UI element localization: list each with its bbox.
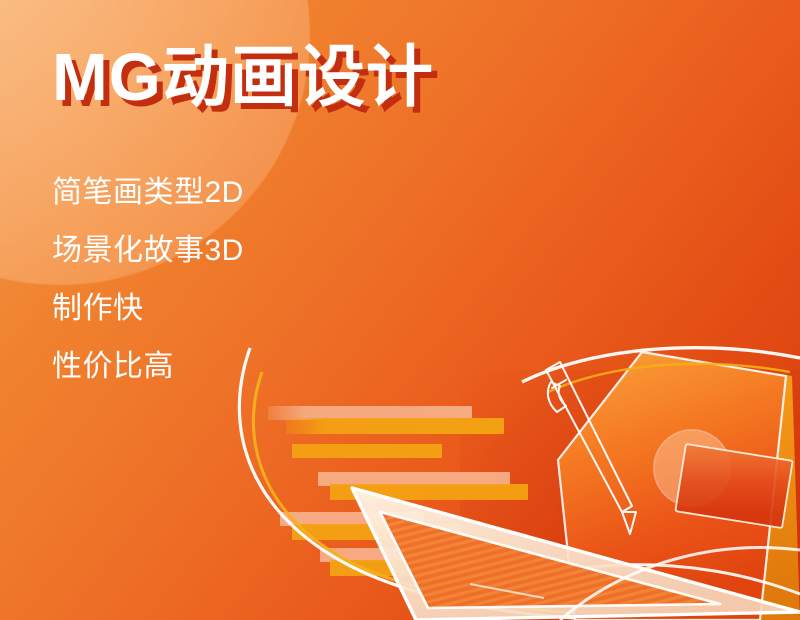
headline-block: MG动画设计 [52,44,434,111]
feature-list: 简笔画类型2D 场景化故事3D 制作快 性价比高 [52,178,244,382]
feature-item-4: 性价比高 [52,352,244,382]
feature-item-2: 场景化故事3D [52,236,244,266]
page-title: MG动画设计 [52,44,434,111]
feature-item-1: 简笔画类型2D [52,178,244,208]
feature-item-3: 制作快 [52,294,244,324]
mg-animation-banner: MG动画设计 简笔画类型2D 场景化故事3D 制作快 性价比高 [0,0,800,620]
